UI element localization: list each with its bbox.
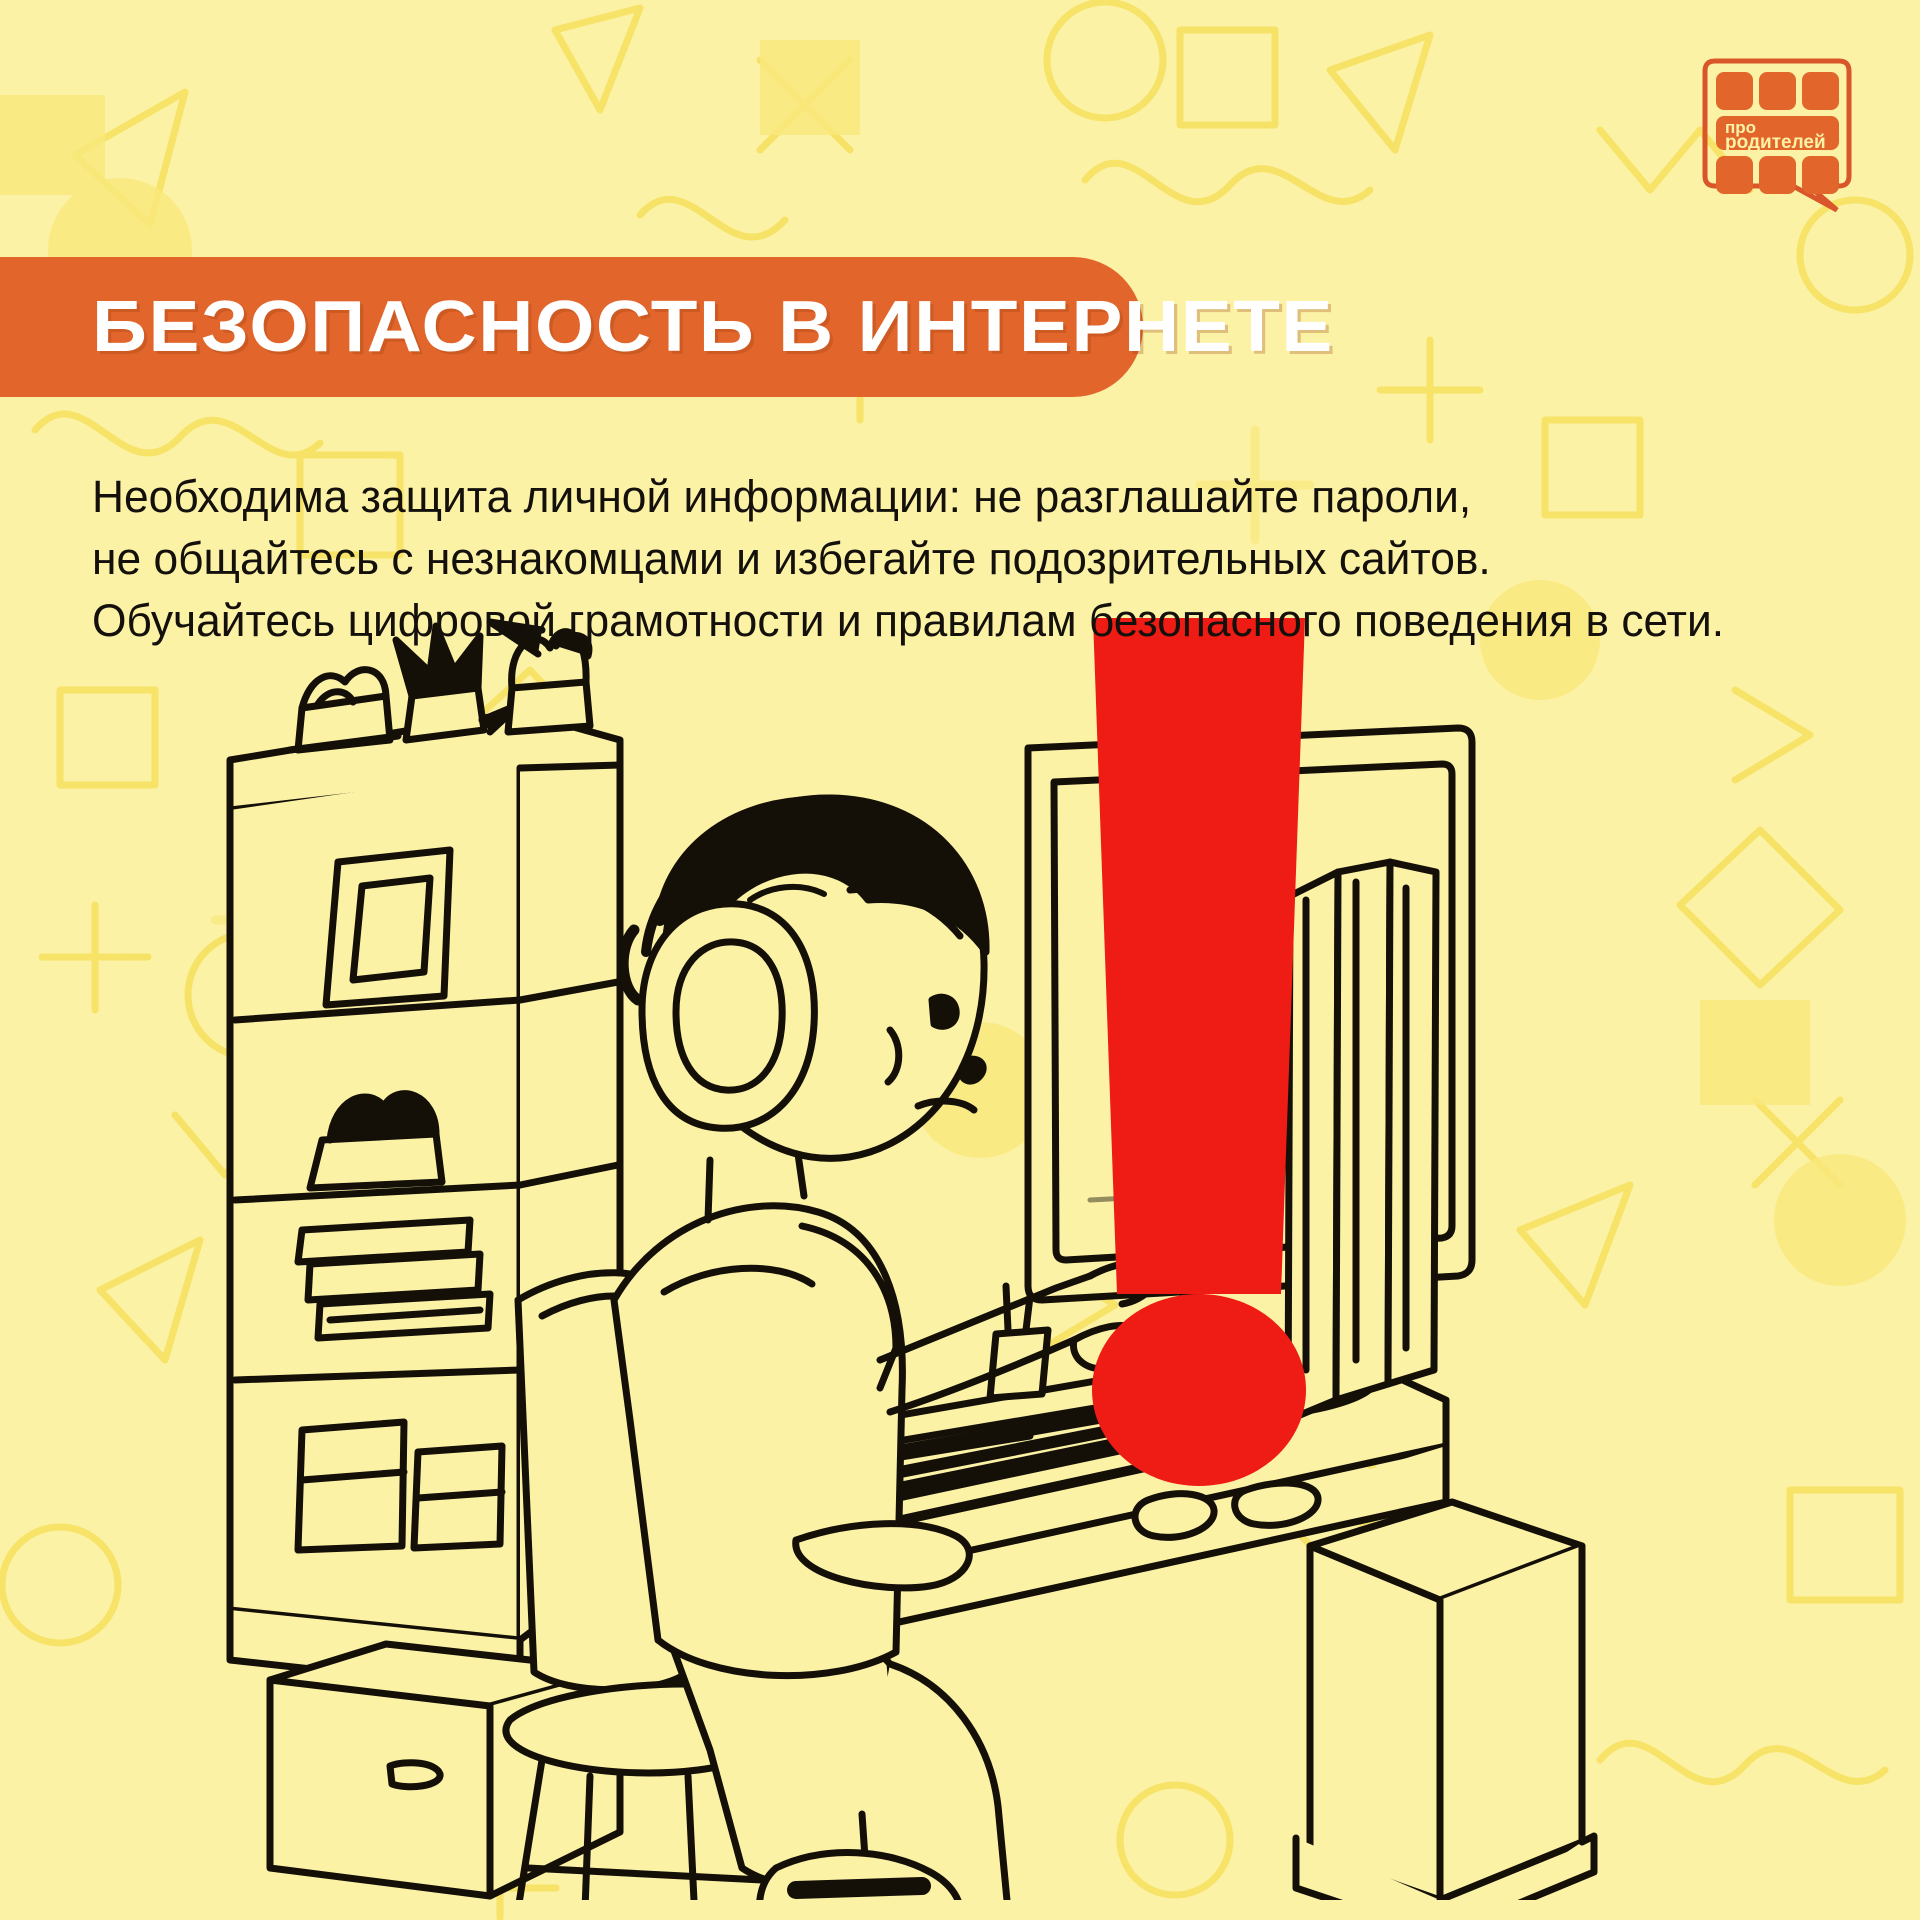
body-line-3: Обучайтесь цифровой грамотности и правил… bbox=[92, 590, 1855, 652]
mouse bbox=[1135, 1494, 1214, 1538]
page-title: БЕЗОПАСНОСТЬ В ИНТЕРНЕТЕ bbox=[92, 286, 1334, 368]
alert-exclamation-icon bbox=[1092, 618, 1306, 1486]
body-line-1: Необходима защита личной информации: не … bbox=[92, 466, 1855, 528]
illustration-child-at-computer bbox=[190, 600, 1610, 1900]
desk-books bbox=[1288, 862, 1436, 1420]
body-copy: Необходима защита личной информации: не … bbox=[92, 466, 1882, 652]
shelf-laptop bbox=[326, 850, 450, 1005]
title-banner: БЕЗОПАСНОСТЬ В ИНТЕРНЕТЕ bbox=[0, 257, 1143, 397]
shelf-books bbox=[298, 1220, 490, 1338]
logo-text-line2: родителей bbox=[1725, 132, 1826, 153]
desk-tray bbox=[1235, 1483, 1318, 1525]
brand-logo[interactable]: про родителей bbox=[1697, 58, 1857, 213]
body-line-2: не общайтесь с незнакомцами и избегайте … bbox=[92, 528, 1855, 590]
